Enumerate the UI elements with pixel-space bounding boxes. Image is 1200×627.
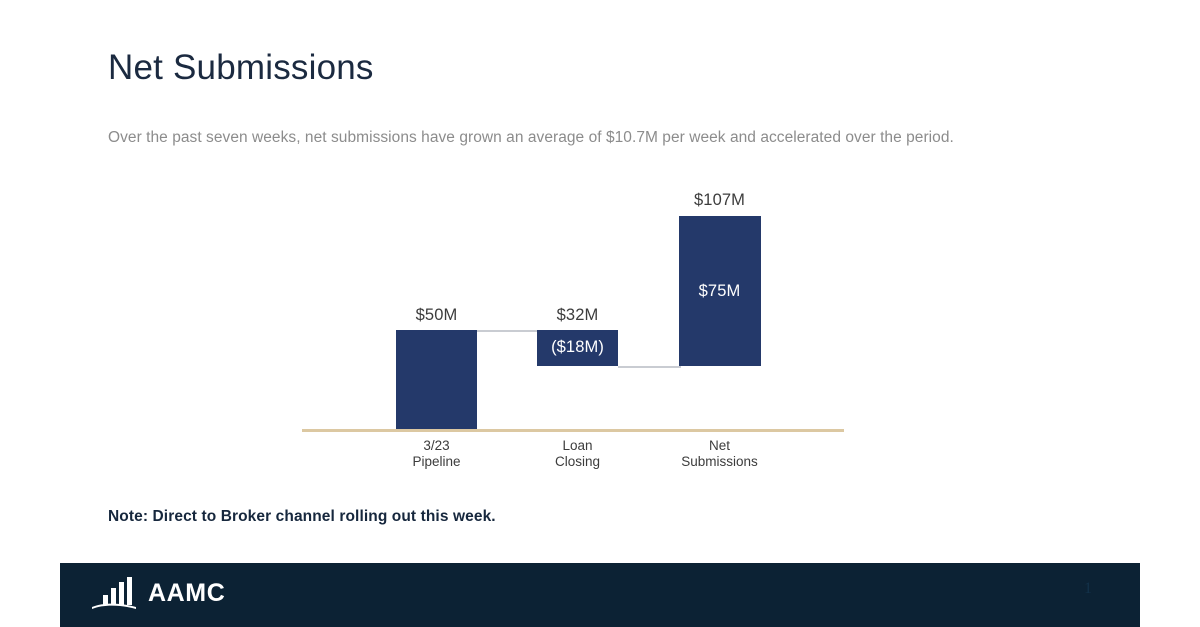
x-axis-label-line-2: Closing bbox=[517, 454, 638, 470]
connector-line-2 bbox=[618, 366, 681, 368]
connector-line-1 bbox=[477, 330, 539, 332]
footnote-text: Note: Direct to Broker channel rolling o… bbox=[108, 508, 496, 526]
bar-inside-label-loan-closing: ($18M) bbox=[517, 338, 638, 357]
axis-baseline bbox=[302, 429, 844, 432]
bar-label-net-submissions: $107M bbox=[659, 191, 780, 210]
x-axis-label-3-23-pipeline: 3/23 Pipeline bbox=[376, 438, 497, 470]
bar-inside-label-net-submissions: $75M bbox=[659, 282, 780, 301]
bar-label-3-23-pipeline: $50M bbox=[376, 306, 497, 325]
x-axis-label-line-1: Loan bbox=[517, 438, 638, 454]
x-axis-label-loan-closing: Loan Closing bbox=[517, 438, 638, 470]
waterfall-chart: $50M $32M ($18M) $107M $75M 3/23 Pipelin… bbox=[0, 0, 1200, 627]
brand-wordmark: AAMC bbox=[148, 578, 225, 608]
page-title: Net Submissions bbox=[108, 46, 374, 90]
bar-chart-logo-icon bbox=[90, 574, 138, 612]
page-number: 1 bbox=[1084, 580, 1092, 598]
brand-lockup: AAMC bbox=[90, 574, 225, 612]
x-axis-label-net-submissions: Net Submissions bbox=[659, 438, 780, 470]
footer-bar: AAMC 1 bbox=[60, 563, 1140, 627]
x-axis-label-line-2: Submissions bbox=[659, 454, 780, 470]
bar-3-23-pipeline[interactable] bbox=[396, 330, 477, 429]
slide-canvas: Net Submissions Over the past seven week… bbox=[0, 0, 1200, 627]
x-axis-label-line-1: 3/23 bbox=[376, 438, 497, 454]
slide-subtitle: Over the past seven weeks, net submissio… bbox=[108, 127, 954, 149]
x-axis-label-line-1: Net bbox=[659, 438, 780, 454]
x-axis-label-line-2: Pipeline bbox=[376, 454, 497, 470]
bar-label-loan-closing: $32M bbox=[517, 306, 638, 325]
